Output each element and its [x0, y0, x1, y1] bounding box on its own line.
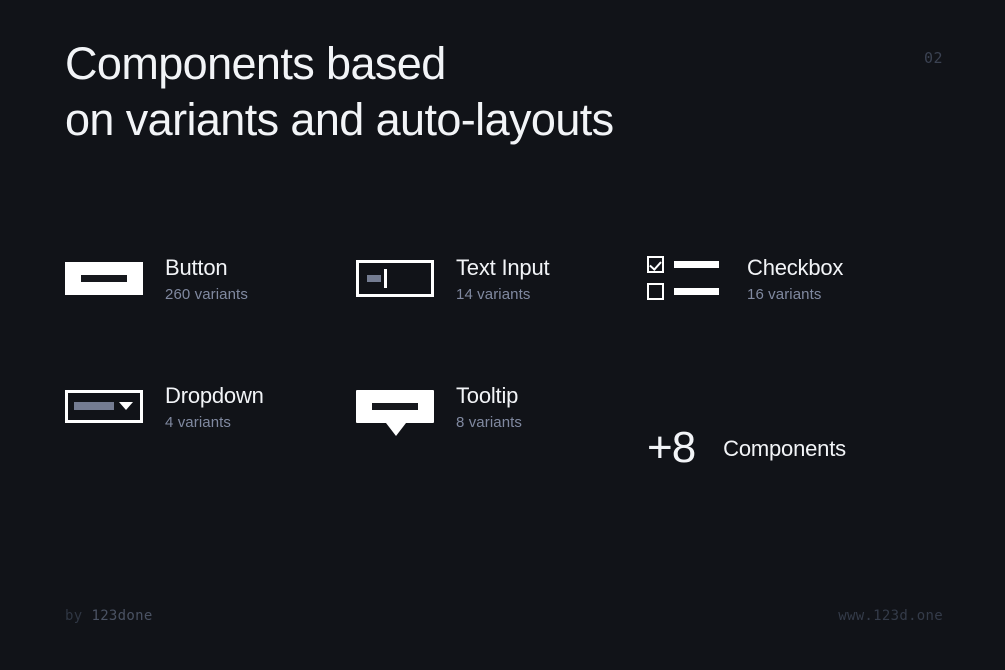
component-subtitle: 14 variants	[456, 285, 549, 305]
component-item-dropdown[interactable]: Dropdown 4 variants	[65, 380, 356, 508]
checkbox-row-checked	[647, 256, 725, 273]
checkbox-empty-box	[647, 283, 664, 300]
page-number: 02	[924, 49, 943, 67]
input-caret	[384, 269, 387, 288]
footer-brand: 123done	[91, 608, 152, 624]
component-item-more[interactable]: +8 Components	[647, 380, 938, 508]
footer-website[interactable]: www.123d.one	[838, 608, 943, 624]
component-title: Tooltip	[456, 382, 522, 409]
page-title: Components based on variants and auto-la…	[65, 36, 614, 148]
tooltip-pointer	[386, 423, 406, 436]
component-subtitle: 8 variants	[456, 413, 522, 433]
component-title: Button	[165, 254, 248, 281]
component-text: Button 260 variants	[165, 252, 248, 305]
component-item-checkbox[interactable]: Checkbox 16 variants	[647, 252, 938, 380]
checkbox-label-bar	[674, 261, 719, 268]
more-count: +8	[647, 426, 695, 470]
more-label: Components	[723, 435, 846, 462]
dropdown-value-bar	[74, 402, 114, 410]
button-label-bar	[81, 275, 127, 282]
checkbox-icon	[647, 252, 725, 300]
footer-credit: by 123done	[65, 608, 153, 624]
component-subtitle: 260 variants	[165, 285, 248, 305]
components-grid: Button 260 variants Text Input 14 varian…	[65, 252, 945, 508]
input-placeholder-bar	[367, 275, 381, 282]
slide: Components based on variants and auto-la…	[0, 0, 1005, 670]
footer-by-prefix: by	[65, 608, 82, 624]
component-text: Checkbox 16 variants	[747, 252, 843, 305]
tooltip-text-bar	[372, 403, 418, 410]
component-title: Checkbox	[747, 254, 843, 281]
component-subtitle: 16 variants	[747, 285, 843, 305]
component-subtitle: 4 variants	[165, 413, 264, 433]
checkbox-checked-box	[647, 256, 664, 273]
button-icon	[65, 252, 143, 300]
tooltip-icon	[356, 380, 434, 428]
component-text: Text Input 14 variants	[456, 252, 549, 305]
component-text: Dropdown 4 variants	[165, 380, 264, 433]
component-text: Tooltip 8 variants	[456, 380, 522, 433]
component-title: Dropdown	[165, 382, 264, 409]
component-item-text-input[interactable]: Text Input 14 variants	[356, 252, 647, 380]
dropdown-icon	[65, 380, 143, 428]
text-input-icon	[356, 252, 434, 300]
checkbox-row-unchecked	[647, 283, 725, 300]
chevron-down-icon	[119, 402, 133, 410]
component-item-tooltip[interactable]: Tooltip 8 variants	[356, 380, 647, 508]
component-title: Text Input	[456, 254, 549, 281]
component-item-button[interactable]: Button 260 variants	[65, 252, 356, 380]
checkbox-label-bar	[674, 288, 719, 295]
